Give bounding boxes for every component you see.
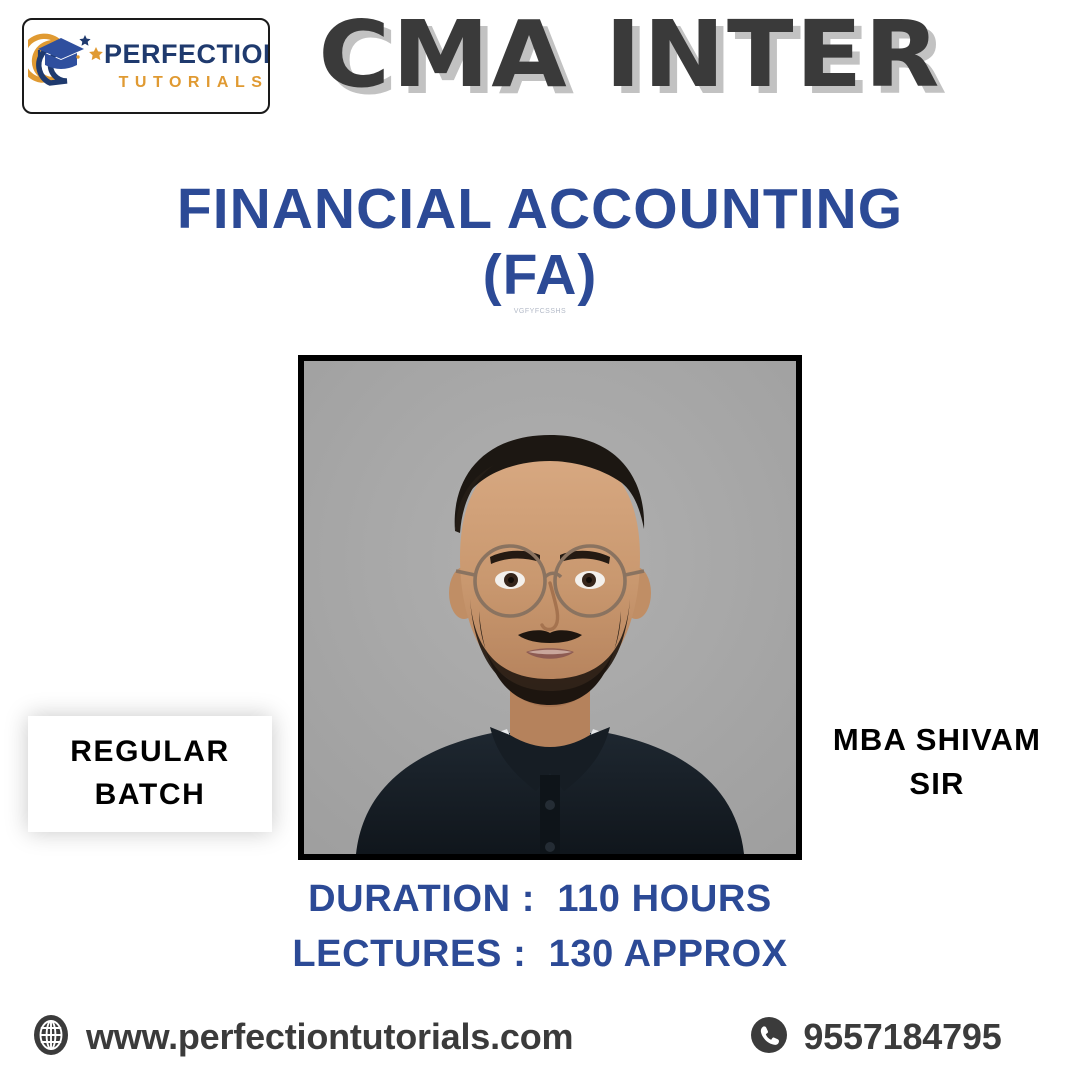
batch-line-2: BATCH bbox=[95, 774, 206, 817]
phone-number: 9557184795 bbox=[803, 1016, 1001, 1058]
logo-secondary-text: TUTORIALS bbox=[104, 75, 270, 91]
globe-icon bbox=[30, 1014, 72, 1061]
website-url: www.perfectiontutorials.com bbox=[86, 1016, 573, 1058]
phone-icon bbox=[749, 1015, 789, 1060]
batch-line-1: REGULAR bbox=[70, 731, 230, 774]
batch-type-card: REGULAR BATCH bbox=[28, 716, 272, 832]
graduation-cap-logo-icon bbox=[28, 25, 110, 107]
poster-footer: www.perfectiontutorials.com 9557184795 bbox=[0, 994, 1080, 1080]
logo-primary-text: PERFECTION bbox=[104, 41, 270, 68]
instructor-name: MBA SHIVAM SIR bbox=[806, 718, 1068, 806]
course-title-line-1: FINANCIAL ACCOUNTING bbox=[177, 177, 903, 241]
phone-contact[interactable]: 9557184795 bbox=[749, 1015, 1001, 1060]
course-title-line-2: (FA) bbox=[0, 242, 1080, 308]
course-details: DURATION : 110 HOURS LECTURES : 130 APPR… bbox=[0, 872, 1080, 983]
course-duration: DURATION : 110 HOURS bbox=[0, 872, 1080, 927]
promo-poster: PERFECTION TUTORIALS CMA INTER FINANCIAL… bbox=[0, 0, 1080, 1080]
instructor-photo-frame bbox=[298, 355, 802, 860]
course-lectures: LECTURES : 130 APPROX bbox=[0, 927, 1080, 982]
title-watermark: VGFYFCSSHS bbox=[0, 308, 1080, 315]
instructor-portrait bbox=[304, 361, 796, 854]
website-contact[interactable]: www.perfectiontutorials.com bbox=[30, 1014, 573, 1061]
brand-logo-card[interactable]: PERFECTION TUTORIALS bbox=[22, 18, 270, 114]
brand-logo-wordmark: PERFECTION TUTORIALS bbox=[104, 41, 270, 91]
instructor-name-line-2: SIR bbox=[806, 762, 1068, 806]
course-title: FINANCIAL ACCOUNTING (FA) bbox=[0, 176, 1080, 308]
instructor-name-line-1: MBA SHIVAM bbox=[833, 722, 1041, 757]
poster-headline: CMA INTER bbox=[301, 2, 958, 108]
